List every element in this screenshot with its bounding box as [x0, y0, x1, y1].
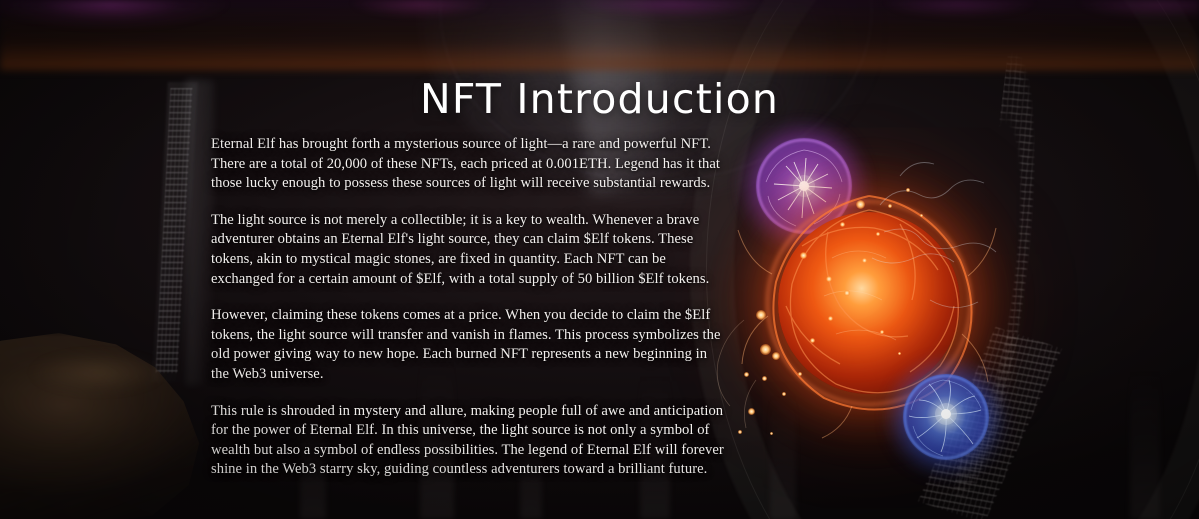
paragraph-4: This rule is shrouded in mystery and all… [211, 402, 727, 480]
paragraph-3: However, claiming these tokens comes at … [211, 306, 727, 384]
paragraph-2: The light source is not merely a collect… [211, 211, 727, 289]
page-title: NFT Introduction [0, 75, 1199, 123]
nft-introduction-page: NFT Introduction Eternal Elf has brought… [0, 0, 1199, 519]
introduction-body-copy: Eternal Elf has brought forth a mysterio… [211, 135, 727, 480]
paragraph-1: Eternal Elf has brought forth a mysterio… [211, 135, 727, 194]
content-area: NFT Introduction Eternal Elf has brought… [0, 0, 1199, 519]
